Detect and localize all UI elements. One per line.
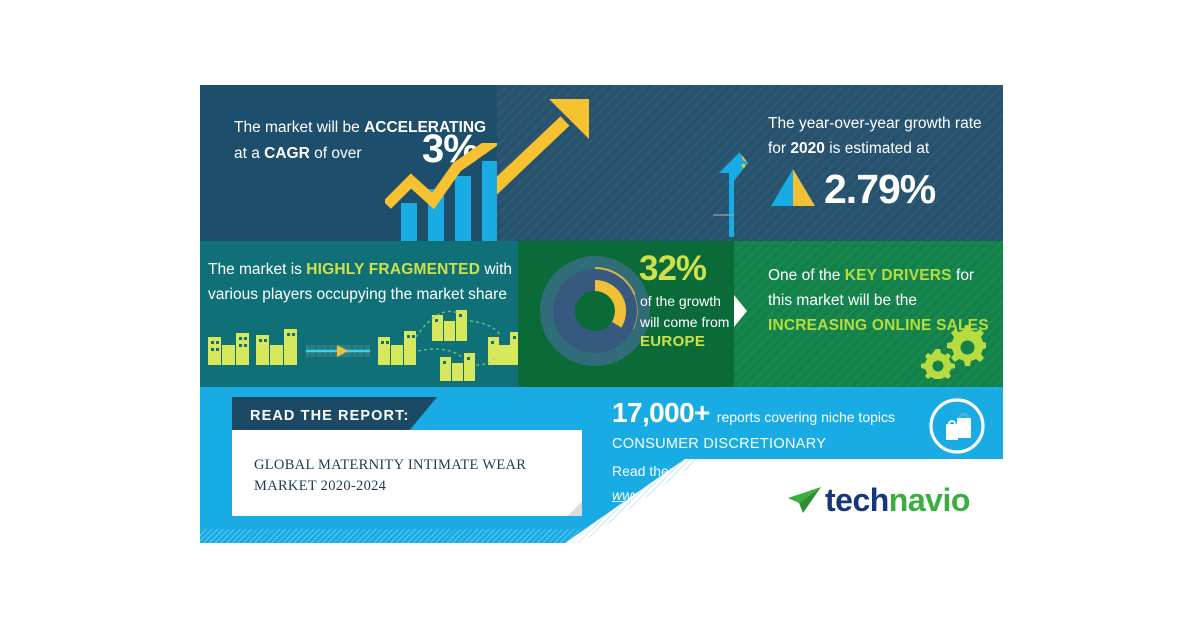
infographic-canvas: The market will be ACCELERATING at a CAG… bbox=[0, 0, 1200, 627]
donut-region: EUROPE bbox=[640, 333, 705, 350]
technavio-logo-tech: tech bbox=[825, 482, 889, 518]
reports-count-row: 17,000+reports covering niche topics bbox=[612, 397, 895, 429]
yoy-statement: The year-over-year growth rate for 2020 … bbox=[768, 111, 998, 161]
cagr-text-prefix: The market will be bbox=[234, 119, 364, 136]
yoy-text-year: 2020 bbox=[790, 140, 824, 157]
technavio-logo[interactable]: technavio bbox=[785, 482, 970, 519]
fragmented-text-prefix: The market is bbox=[208, 261, 306, 278]
yoy-value: 2.79% bbox=[824, 166, 935, 213]
panel-yoy-growth: The year-over-year growth rate for 2020 … bbox=[734, 85, 1003, 241]
growth-triangle-icon bbox=[771, 169, 815, 206]
report-category: CONSUMER DISCRETIONARY bbox=[612, 436, 826, 452]
cagr-text-mid: at a bbox=[234, 145, 264, 162]
fragmented-text-strong: HIGHLY FRAGMENTED bbox=[306, 261, 480, 278]
yoy-text-suffix: is estimated at bbox=[825, 140, 929, 157]
reports-count: 17,000+ bbox=[612, 397, 710, 428]
row-footer: READ THE REPORT: GLOBAL MATERNITY INTIMA… bbox=[200, 387, 1003, 543]
key-drivers-text-strong: KEY DRIVERS bbox=[845, 267, 952, 284]
yoy-text-prefix: The year-over-year growth rate bbox=[768, 115, 982, 132]
donut-chart bbox=[540, 256, 650, 366]
donut-sub-line2: will come from bbox=[640, 314, 729, 330]
donut-percent: 32% bbox=[639, 249, 706, 289]
donut-subtext: of the growth will come from bbox=[640, 291, 740, 333]
key-drivers-text-prefix: One of the bbox=[768, 267, 845, 284]
reports-count-label: reports covering niche topics bbox=[717, 409, 895, 425]
report-title-card[interactable]: GLOBAL MATERNITY INTIMATE WEAR MARKET 20… bbox=[232, 430, 582, 516]
gears-icon bbox=[920, 323, 986, 379]
report-title: GLOBAL MATERNITY INTIMATE WEAR MARKET 20… bbox=[254, 455, 564, 497]
read-the-report-label: READ THE REPORT: bbox=[250, 408, 409, 424]
panel-fragmented: The market is HIGHLY FRAGMENTED with var… bbox=[200, 241, 518, 387]
row-top: The market will be ACCELERATING at a CAG… bbox=[200, 85, 1003, 241]
cagr-text-cagr: CAGR bbox=[264, 145, 310, 162]
cagr-text-suffix: of over bbox=[310, 145, 362, 162]
infographic: The market will be ACCELERATING at a CAG… bbox=[200, 85, 1003, 543]
market-fragmentation-icon bbox=[200, 307, 518, 387]
row-middle: The market is HIGHLY FRAGMENTED with var… bbox=[200, 241, 1003, 387]
fragmented-statement: The market is HIGHLY FRAGMENTED with var… bbox=[208, 257, 512, 307]
panel-europe-share: 32% of the growth will come from EUROPE bbox=[518, 241, 734, 387]
technavio-logo-navio: navio bbox=[889, 482, 970, 518]
technavio-arrow-icon bbox=[785, 485, 823, 515]
panel-key-drivers: One of the KEY DRIVERS for this market w… bbox=[734, 241, 1003, 387]
yoy-text-mid: for bbox=[768, 140, 790, 157]
donut-sub-line1: of the growth bbox=[640, 293, 721, 309]
panel-cagr: The market will be ACCELERATING at a CAG… bbox=[200, 85, 497, 241]
shopping-bags-icon bbox=[927, 396, 987, 456]
